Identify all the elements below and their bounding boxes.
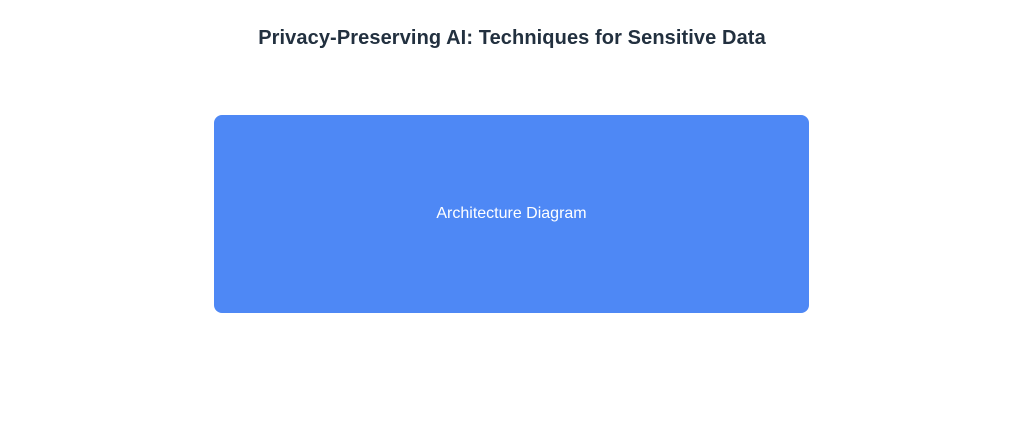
- page-title: Privacy-Preserving AI: Techniques for Se…: [0, 25, 1024, 51]
- architecture-diagram-placeholder[interactable]: Architecture Diagram: [214, 115, 809, 313]
- architecture-diagram-placeholder-label: Architecture Diagram: [436, 204, 586, 224]
- slide-canvas: Privacy-Preserving AI: Techniques for Se…: [0, 0, 1024, 429]
